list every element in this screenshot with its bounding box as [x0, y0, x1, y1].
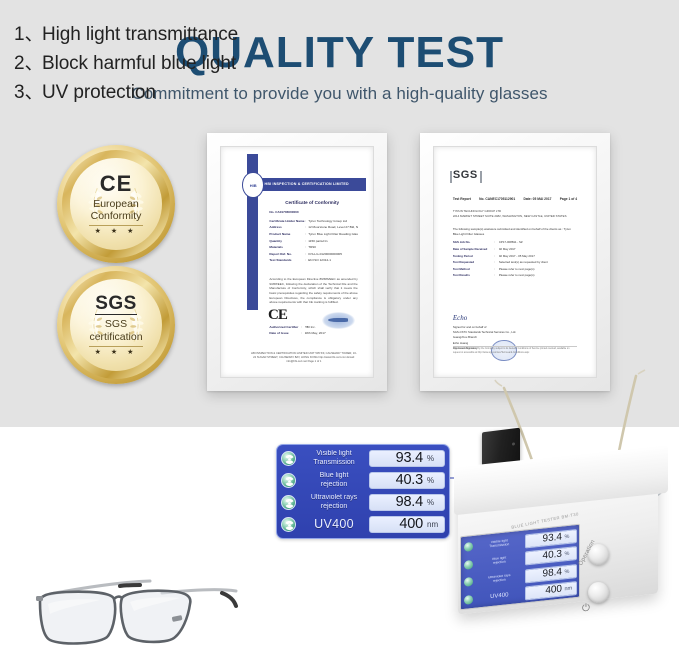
device-screen: Visible light Transmission 93.4 % Blue l…	[460, 524, 580, 611]
sgs-lead-text: The following sample(s) was/were submitt…	[453, 227, 577, 237]
sgs-signature-block: Signed for and on behalf of SGS-CSTC Sta…	[453, 325, 527, 340]
table-row: Certificate Holder Name : Tyrun Technolo…	[269, 219, 357, 223]
list-item-number: 2、	[14, 51, 42, 78]
sgs-report-fields: SGS Job No. : CP17-008811 - SZ Date of S…	[453, 240, 577, 280]
field-value: Selected test(s) as requested by client	[499, 260, 577, 264]
list-item: 2、 Block harmful blue light	[14, 51, 274, 78]
certificate-paragraph: According to the European Directive 89/6…	[269, 277, 357, 305]
field-value: Tyrun Blue Light Filter Reading Glasses	[308, 232, 357, 236]
field-key: Product Name	[269, 232, 304, 236]
screen-label: UV400	[474, 590, 525, 602]
badge-inner: SGS SGS certification ★ ★ ★	[70, 279, 162, 371]
sgs-badge-line2: certification	[89, 331, 142, 343]
measurement-value: 98.4	[396, 495, 423, 510]
list-item-number: 1、	[14, 22, 42, 49]
field-value: Please refer to next page(s)	[499, 267, 577, 271]
sgs-report-logo: SGS	[453, 169, 478, 181]
field-value: 02 May 2017 - 05 May 2017	[499, 254, 577, 258]
field-value: ICS-LG-0120000000005	[308, 252, 357, 256]
sgs-badge: SGS SGS certification ★ ★ ★	[57, 266, 175, 384]
table-row: Date of Sample Received : 02 May 2017	[453, 247, 577, 251]
sgs-report-document: SGS Test Report No. CANEC1705112901 Date…	[441, 154, 589, 370]
ce-badge: CE European Conformity ★ ★ ★	[57, 145, 175, 263]
label-line-2: rejection	[301, 503, 367, 512]
ce-badge-line1: European	[93, 198, 139, 210]
field-key: Certificate Holder Name	[269, 219, 304, 223]
screen-label: Visible light Transmission	[474, 537, 525, 550]
ce-certificate-frame: HBI INSPECTION & CERTIFICATION LIMITED H…	[207, 133, 387, 391]
label-line-1: Visible light	[301, 450, 367, 459]
holder-indicator-dot	[512, 442, 515, 445]
feature-list: 1、 High light transmittance 2、 Block har…	[14, 22, 274, 109]
measurement-label: Blue light rejection	[299, 472, 369, 489]
field-value: EN ISO 12312-1	[308, 258, 357, 262]
screen-value: 400	[545, 585, 562, 597]
power-knob[interactable]	[588, 582, 609, 603]
certificate-seal: HIB	[242, 172, 263, 198]
certificate-footer: HBI INSPECTION & CERTIFICATION LIMITED U…	[250, 352, 358, 365]
field-value: 1150 pairs/ctn	[308, 239, 357, 243]
field-key: Test Method	[453, 267, 494, 271]
radiation-icon	[281, 473, 296, 488]
measurement-value: 40.3	[396, 473, 423, 488]
badge-content: CE European Conformity ★ ★ ★	[70, 158, 162, 250]
screen-value: 40.3	[543, 550, 562, 562]
label-line-2: Transmission	[301, 459, 367, 468]
report-page: Page 1 of 4	[560, 197, 577, 201]
field-value: 02 May 2017	[499, 247, 577, 251]
label-line-1: Ultraviolet rays	[301, 494, 367, 503]
field-key: Test Results	[453, 273, 494, 277]
radiation-icon	[281, 451, 296, 466]
field-key: Report Ref. No.	[269, 252, 304, 256]
radiation-icon	[464, 577, 473, 587]
field-value: Please refer to next page(s)	[499, 273, 577, 277]
sgs-badge-stars: ★ ★ ★	[95, 349, 138, 356]
measurement-row: Blue light rejection 40.3 %	[281, 471, 445, 490]
table-row: SGS Job No. : CP17-008811 - SZ	[453, 240, 577, 244]
label-line-1: Blue light	[301, 472, 367, 481]
report-type: Test Report	[453, 197, 471, 201]
field-key: Quantity	[269, 239, 304, 243]
measurement-row: Ultraviolet rays rejection 98.4 %	[281, 493, 445, 512]
screen-label: Ultraviolet rays rejection	[474, 572, 525, 585]
signed-entity-line: SGS-CSTC Standards Technical Services Co…	[453, 330, 527, 340]
screen-label: Blue light rejection	[474, 555, 525, 568]
list-item: 1、 High light transmittance	[14, 22, 274, 49]
radiation-icon	[281, 517, 296, 532]
blue-light-tester-device: BLUE LIGHT TESTER BM-T30 Visible light T…	[430, 368, 679, 660]
field-key: Date of Issue	[269, 331, 301, 335]
table-row: Test Method : Please refer to next page(…	[453, 267, 577, 271]
measurement-label: Visible light Transmission	[299, 450, 369, 467]
sgs-client-address: TYRUN TECHNOLOGY GROUP LTD 2214 MARKET S…	[453, 209, 577, 219]
field-key: Authorized Certifier	[269, 325, 301, 329]
screen-value-box: 400 nm	[525, 581, 577, 600]
table-row: Materials : TR90	[269, 245, 357, 249]
list-item-label: High light transmittance	[42, 22, 274, 49]
field-value: 18th May, 2017	[305, 331, 350, 335]
measurement-value: 400	[399, 517, 423, 532]
signature-mark: Echo	[453, 314, 467, 322]
field-value: Tyrun Technology Group Ltd	[308, 219, 357, 223]
table-row: Testing Period : 02 May 2017 - 05 May 20…	[453, 254, 577, 258]
quality-test-infographic: QUALITY TEST Commitment to provide you w…	[0, 0, 679, 660]
table-row: Address : 12 Moorstone Road, Level 27 Bl…	[269, 225, 357, 229]
ce-certificate-document: HBI INSPECTION & CERTIFICATION LIMITED H…	[228, 154, 366, 370]
report-date: Date: 05 MAI 2017	[523, 197, 551, 201]
radiation-icon	[281, 495, 296, 510]
measurement-value: 93.4	[396, 451, 423, 466]
badge-content: SGS SGS certification ★ ★ ★	[70, 279, 162, 371]
field-key: Test Standards	[269, 258, 304, 262]
ce-mark-logo: CE	[100, 173, 133, 195]
certificate-footer-fields: Authorized Certifier : HBI Inc. Date of …	[269, 325, 349, 338]
ce-badge-stars: ★ ★ ★	[95, 228, 138, 235]
measurement-label: Ultraviolet rays rejection	[299, 494, 369, 511]
field-key: SGS Job No.	[453, 240, 494, 244]
badge-inner: CE European Conformity ★ ★ ★	[70, 158, 162, 250]
badge-divider	[89, 225, 143, 226]
table-row: Authorized Certifier : HBI Inc.	[269, 325, 349, 329]
client-address: 2214 MARKET STREET SUITE 2482, WASHINGTO…	[453, 214, 577, 219]
field-key: Test Requested	[453, 260, 494, 264]
screen-unit: nm	[565, 586, 574, 593]
radiation-icon	[464, 542, 473, 552]
product-glasses-photo	[22, 560, 254, 655]
field-value: 12 Moorstone Road, Level 27 Bld, Newtown…	[308, 225, 357, 229]
power-icon: ⏻	[582, 604, 590, 615]
screen-value: 98.4	[543, 567, 562, 579]
field-key: Testing Period	[453, 254, 494, 258]
frame-mat: SGS Test Report No. CANEC1705112901 Date…	[433, 146, 597, 378]
field-key: Address	[269, 225, 304, 229]
screen-unit: %	[565, 568, 574, 575]
sgs-report-frame: SGS Test Report No. CANEC1705112901 Date…	[420, 133, 610, 391]
certificate-ref: No. CA01706000000	[269, 210, 298, 214]
ce-mark-icon: CE	[268, 307, 287, 324]
table-row: Product Name : Tyrun Blue Light Filter R…	[269, 232, 357, 236]
measurement-row: Visible light Transmission 93.4 %	[281, 449, 445, 468]
sgs-report-header: Test Report No. CANEC1705112901 Date: 05…	[453, 197, 577, 201]
ce-badge-line2: Conformity	[91, 210, 142, 222]
measurement-label: UV400	[299, 517, 369, 532]
frame-mat: HBI INSPECTION & CERTIFICATION LIMITED H…	[220, 146, 374, 378]
field-key: Materials	[269, 245, 304, 249]
radiation-icon	[464, 595, 473, 605]
list-item: 3、 UV protection	[14, 80, 274, 107]
sgs-badge-line1: SGS	[105, 318, 127, 330]
badge-divider	[89, 346, 143, 347]
table-row: Date of Issue : 18th May, 2017	[269, 331, 349, 335]
sgs-report-footer: This document is issued by the Company s…	[453, 346, 577, 365]
screen-unit: %	[565, 550, 574, 557]
radiation-icon	[464, 560, 473, 570]
field-value: CP17-008811 - SZ	[499, 240, 577, 244]
field-key: Date of Sample Received	[453, 247, 494, 251]
sgs-logo: SGS	[95, 294, 137, 315]
measurement-row: UV400 400 nm	[281, 515, 445, 534]
screen-unit: %	[565, 533, 574, 540]
certificate-title: Certificate of Conformity	[269, 200, 355, 205]
table-row: Test Results : Please refer to next page…	[453, 273, 577, 277]
field-value: TR90	[308, 245, 357, 249]
table-row: Quantity : 1150 pairs/ctn	[269, 239, 357, 243]
certificate-fields: Certificate Holder Name : Tyrun Technolo…	[269, 219, 357, 265]
measurement-callout-panel: Visible light Transmission 93.4 % Blue l…	[276, 444, 450, 539]
report-number: No. CANEC1705112901	[479, 197, 515, 201]
table-row: Test Requested : Selected test(s) as req…	[453, 260, 577, 264]
list-item-label: Block harmful blue light	[42, 51, 274, 78]
screen-value: 93.4	[543, 532, 562, 544]
table-row: Test Standards : EN ISO 12312-1	[269, 258, 357, 262]
list-item-number: 3、	[14, 80, 42, 107]
list-item-label: UV protection	[42, 80, 274, 107]
certificate-header-band: HBI INSPECTION & CERTIFICATION LIMITED	[247, 178, 366, 191]
field-value: HBI Inc.	[305, 325, 350, 329]
table-row: Report Ref. No. : ICS-LG-0120000000005	[269, 252, 357, 256]
label-line-2: rejection	[301, 481, 367, 490]
